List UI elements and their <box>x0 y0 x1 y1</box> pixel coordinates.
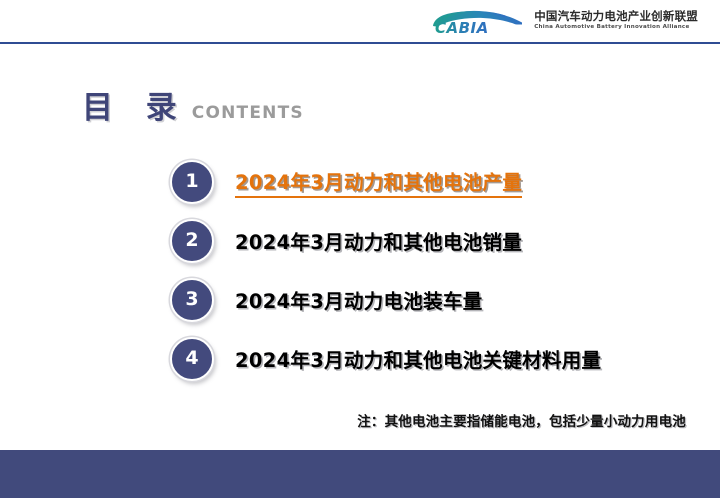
org-name-cn: 中国汽车动力电池产业创新联盟 <box>534 11 698 23</box>
item-number-badge: 4 <box>170 337 214 381</box>
org-name-en: China Automotive Battery Innovation Alli… <box>534 25 698 31</box>
item-number-badge: 3 <box>170 278 214 322</box>
page-title-cn: 目 录 <box>82 82 188 127</box>
item-number: 3 <box>185 290 198 309</box>
svg-text:CABIA: CABIA <box>435 19 489 36</box>
slide-header: CABIA 中国汽车动力电池产业创新联盟 China Automotive Ba… <box>0 0 720 44</box>
item-number: 4 <box>185 349 198 368</box>
item-number-badge: 2 <box>170 219 214 263</box>
organization-logo: CABIA 中国汽车动力电池产业创新联盟 China Automotive Ba… <box>429 6 698 36</box>
footnote: 注：其他电池主要指储能电池，包括少量小动力用电池 <box>357 410 686 430</box>
footer-bar <box>0 450 720 498</box>
contents-item-label[interactable]: 2024年3月动力电池装车量 <box>235 285 483 314</box>
contents-item-2[interactable]: 2 2024年3月动力和其他电池销量 <box>0 211 720 270</box>
cabia-logo-icon: CABIA <box>429 6 525 36</box>
slide-canvas: CABIA 中国汽车动力电池产业创新联盟 China Automotive Ba… <box>0 0 720 498</box>
page-title: 目 录 CONTENTS <box>82 82 304 127</box>
contents-item-4[interactable]: 4 2024年3月动力和其他电池关键材料用量 <box>0 329 720 388</box>
item-number: 1 <box>185 172 198 191</box>
contents-item-label[interactable]: 2024年3月动力和其他电池产量 <box>235 166 522 198</box>
contents-item-label[interactable]: 2024年3月动力和其他电池关键材料用量 <box>235 344 601 373</box>
header-divider <box>0 42 720 44</box>
page-title-en: CONTENTS <box>192 103 304 123</box>
contents-item-1[interactable]: 1 2024年3月动力和其他电池产量 <box>0 152 720 211</box>
item-number: 2 <box>185 231 198 250</box>
item-number-badge: 1 <box>170 160 214 204</box>
contents-item-label[interactable]: 2024年3月动力和其他电池销量 <box>235 226 522 255</box>
contents-list: 1 2024年3月动力和其他电池产量 2 2024年3月动力和其他电池销量 3 … <box>0 152 720 388</box>
contents-item-3[interactable]: 3 2024年3月动力电池装车量 <box>0 270 720 329</box>
organization-name: 中国汽车动力电池产业创新联盟 China Automotive Battery … <box>534 11 698 31</box>
